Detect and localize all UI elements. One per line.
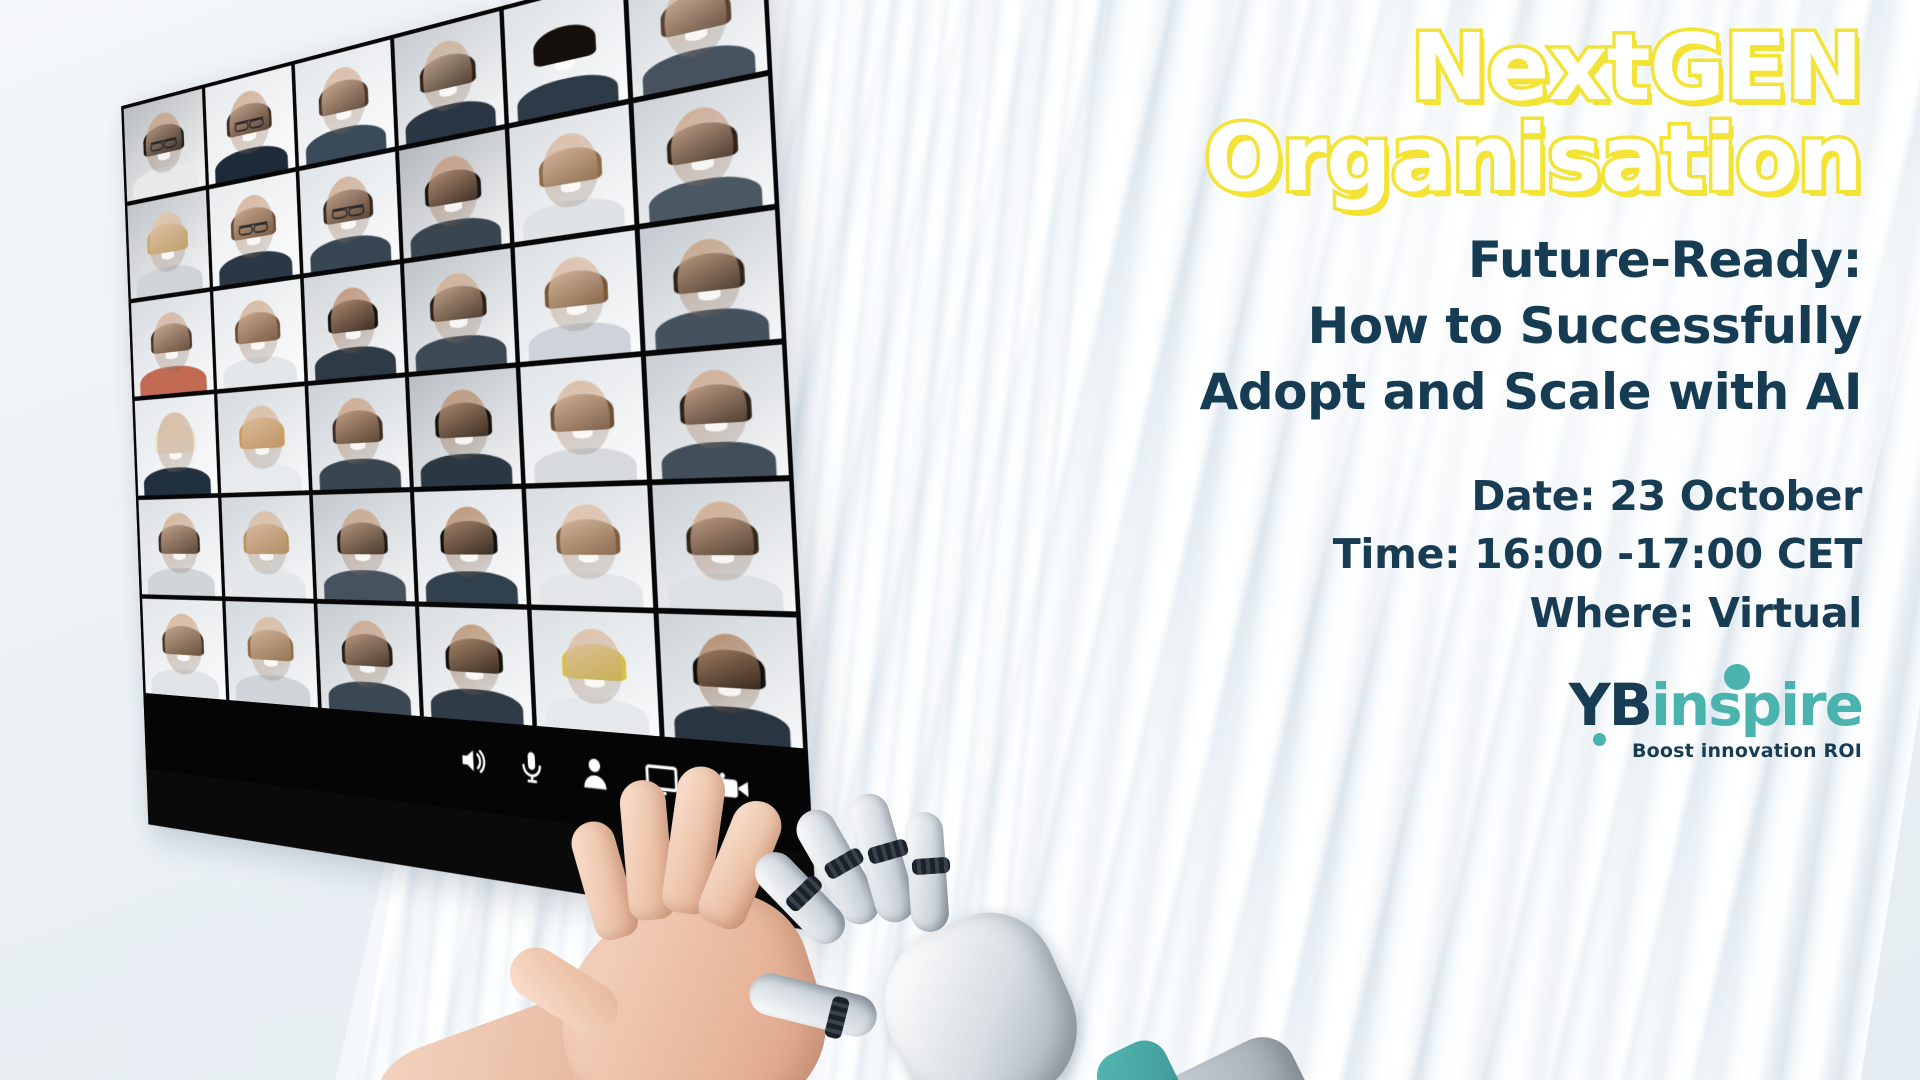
participant-tile[interactable] — [515, 231, 641, 363]
tile-smile — [177, 654, 190, 662]
tile-face — [689, 501, 756, 581]
tile-background — [521, 357, 647, 483]
participant-tile[interactable] — [135, 395, 218, 496]
event-title: NextGEN Organisation — [1162, 26, 1862, 201]
logo-text-in: in — [1651, 671, 1708, 739]
tile-torso — [539, 572, 643, 608]
speaker-icon[interactable] — [457, 741, 488, 780]
tile-torso — [528, 319, 631, 363]
tile-face — [558, 504, 617, 579]
tile-face — [541, 129, 599, 212]
tile-face — [663, 0, 728, 63]
participant-tile[interactable] — [399, 129, 511, 259]
participant-tile[interactable] — [404, 249, 516, 373]
tile-hair — [672, 249, 744, 295]
tile-hair — [556, 518, 621, 554]
robot-knuckle — [911, 857, 950, 876]
logo-tagline: Boost innovation ROI — [1569, 740, 1862, 762]
tile-background — [646, 345, 789, 479]
participant-tile[interactable] — [138, 497, 221, 596]
event-time: Time: 16:00 -17:00 CET — [1162, 525, 1862, 583]
tile-smile — [567, 305, 587, 315]
tile-torso — [661, 439, 778, 479]
tile-torso — [648, 170, 764, 224]
tile-hair — [666, 117, 738, 167]
tile-smile — [573, 430, 593, 439]
logo-text-yb: YB — [1569, 671, 1651, 739]
tile-smile — [173, 554, 186, 561]
tile-face — [553, 378, 612, 455]
tile-smile — [359, 665, 375, 673]
webinar-promo-banner: NextGEN Organisation Future-Ready: How t… — [0, 0, 1920, 1080]
tile-face — [535, 5, 593, 91]
tile-smile — [460, 554, 478, 562]
participant-tile[interactable] — [509, 104, 634, 242]
participant-tile[interactable] — [419, 606, 533, 725]
tile-face — [682, 367, 749, 450]
participant-tile[interactable] — [646, 345, 789, 479]
participant-tile[interactable] — [131, 292, 214, 397]
participant-tile[interactable] — [317, 604, 419, 717]
tile-background — [627, 0, 767, 98]
event-title-line-1: NextGEN — [1162, 26, 1862, 111]
tile-background — [515, 231, 641, 363]
promo-text-column: NextGEN Organisation Future-Ready: How t… — [1162, 26, 1862, 762]
tile-smile — [555, 59, 574, 71]
participant-tile[interactable] — [213, 279, 304, 390]
participant-tile[interactable] — [225, 601, 317, 708]
tile-hair — [660, 0, 731, 39]
tile-smile — [685, 29, 707, 43]
tile-hair — [679, 382, 752, 424]
tile-background — [634, 76, 775, 224]
participant-tile[interactable] — [521, 357, 647, 483]
tile-hair — [533, 19, 596, 69]
robot-hand — [770, 730, 1240, 1080]
tile-torso — [522, 193, 624, 243]
participant-tile[interactable] — [504, 0, 628, 123]
participant-grid — [121, 0, 808, 749]
headline-line-2: How to Successfully — [1162, 293, 1862, 359]
headline-line-3: Adopt and Scale with AI — [1162, 359, 1862, 425]
tile-face — [669, 102, 735, 191]
tile-smile — [466, 672, 484, 681]
tile-background — [640, 210, 782, 351]
tile-hair — [550, 392, 614, 432]
tile-smile — [692, 159, 714, 171]
participant-tile[interactable] — [394, 11, 505, 146]
participant-tile[interactable] — [634, 76, 775, 224]
tile-face — [547, 253, 606, 333]
event-title-line-2: Organisation — [1162, 117, 1862, 202]
tile-torso — [517, 67, 619, 123]
logo-dot-large-icon — [1724, 664, 1750, 690]
tile-smile — [259, 554, 273, 561]
tile-smile — [355, 554, 371, 562]
tile-background — [509, 104, 634, 242]
tile-smile — [561, 182, 580, 193]
tile-background — [504, 0, 628, 123]
tile-smile — [579, 555, 599, 563]
participant-tile[interactable] — [652, 481, 796, 611]
logo-wordmark: YBinspire — [1569, 676, 1862, 734]
event-where: Where: Virtual — [1162, 584, 1862, 642]
logo-dot-small-icon — [1593, 733, 1606, 746]
tile-torso — [667, 573, 785, 611]
tile-torso — [642, 37, 757, 98]
participant-tile[interactable] — [409, 368, 522, 486]
participant-tile[interactable] — [295, 40, 395, 167]
tile-hair — [538, 142, 602, 188]
tile-background — [526, 485, 653, 608]
participant-tile[interactable] — [526, 485, 653, 608]
participant-tile[interactable] — [127, 190, 209, 299]
participant-tile[interactable] — [303, 265, 404, 382]
event-details: Date: 23 October Time: 16:00 -17:00 CET … — [1162, 467, 1862, 642]
participant-tile[interactable] — [217, 387, 309, 493]
tile-hair — [544, 267, 608, 310]
participant-tile[interactable] — [205, 65, 295, 185]
tile-smile — [264, 660, 278, 668]
participant-tile[interactable] — [313, 492, 415, 601]
participant-tile[interactable] — [209, 172, 300, 287]
participant-tile[interactable] — [308, 378, 409, 490]
tile-hair — [685, 516, 758, 555]
tile-smile — [698, 290, 720, 301]
headline-line-1: Future-Ready: — [1162, 227, 1862, 293]
participant-tile[interactable] — [414, 489, 527, 605]
participant-tile[interactable] — [124, 89, 206, 202]
participant-tile[interactable] — [299, 152, 399, 274]
event-headline: Future-Ready: How to Successfully Adopt … — [1162, 227, 1862, 425]
ybinspire-logo[interactable]: YBinspire Boost innovation ROI — [1569, 676, 1862, 762]
tile-torso — [654, 304, 770, 351]
tile-background — [652, 481, 796, 611]
participant-tile[interactable] — [221, 495, 313, 599]
tile-face — [676, 234, 742, 320]
event-date: Date: 23 October — [1162, 467, 1862, 525]
tile-torso — [534, 446, 638, 484]
tile-smile — [711, 555, 733, 564]
participant-tile[interactable] — [627, 0, 767, 98]
participant-tile[interactable] — [640, 210, 782, 351]
tile-smile — [705, 422, 727, 432]
participant-tile[interactable] — [142, 598, 226, 699]
